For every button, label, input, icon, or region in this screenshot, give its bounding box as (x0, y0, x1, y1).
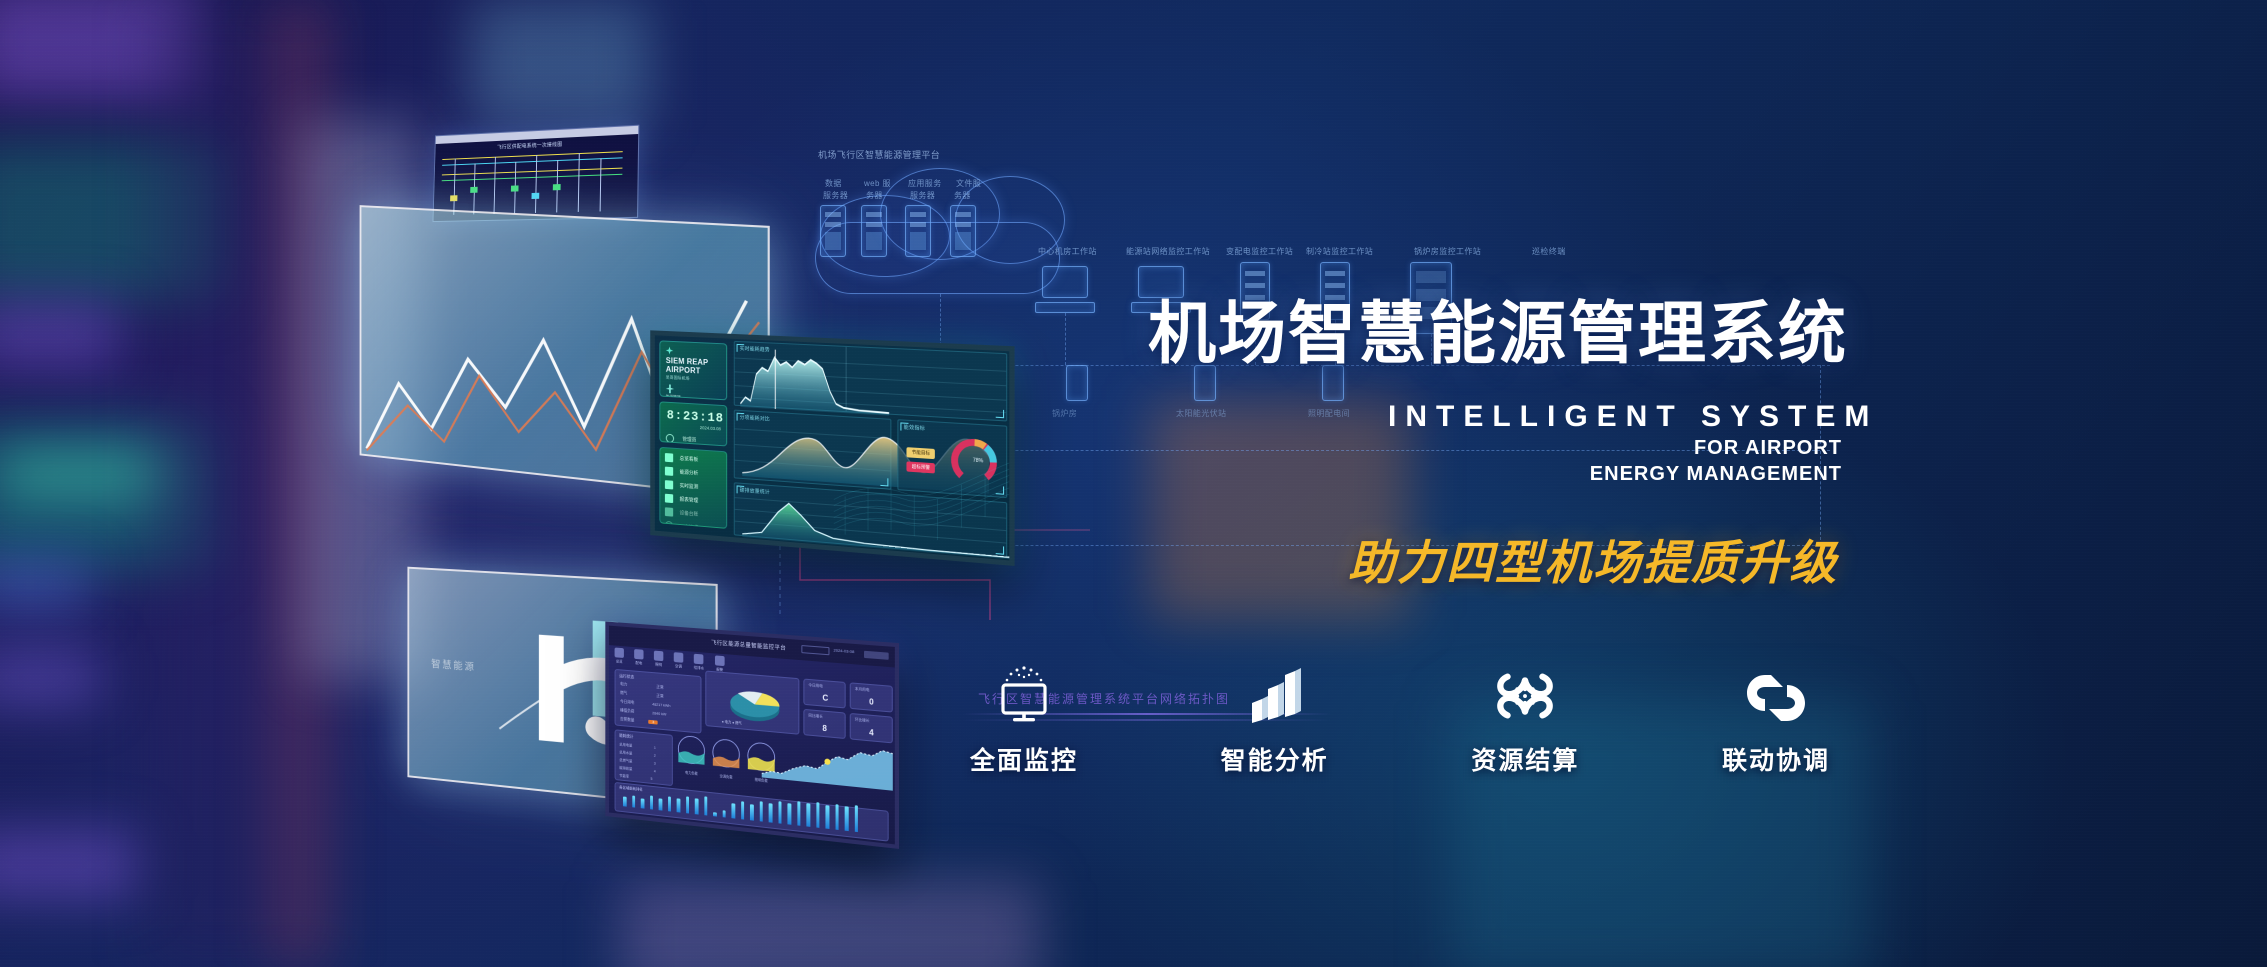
panel-pie: ● 电力 ● 燃气 (705, 671, 799, 735)
header-date: 2024-03-08 (834, 647, 855, 654)
gauge-label: 空调负载 (711, 772, 741, 780)
nav-icon (715, 655, 725, 666)
bar-group (623, 781, 881, 835)
panel-title: 能耗统计 (619, 734, 633, 740)
nav-item[interactable]: 配电 (634, 649, 643, 666)
server-node (861, 205, 887, 257)
info-row: 峰值负荷 2840 kW (620, 708, 666, 717)
sidebar-clock-card: 8:23:18 2024.03.08 管理员 (659, 401, 727, 446)
tagline: 助力四型机场提质升级 (1348, 524, 1838, 593)
info-row-alert: 告警数量 3 (620, 717, 658, 725)
hero-banner: 机场飞行区智慧能源管理平台 数据 服务器 web 服 务器 应用服务 服务器 文… (0, 0, 2267, 967)
kpi-value: 0 (869, 697, 874, 707)
kpi-card: 同比增长 8 (803, 709, 845, 739)
feature-item-coordination[interactable]: 联动协调 (1722, 665, 1830, 777)
kpi-label: 同比增长 (808, 713, 822, 719)
bar (806, 803, 810, 827)
info-row: 燃气 正常 (620, 691, 663, 700)
home-icon (665, 453, 673, 462)
panel-corner (996, 409, 1004, 418)
header-actions[interactable] (864, 651, 889, 660)
stat-row: 总燃气量 3 (619, 758, 655, 767)
dashboard-title: 飞行区能源总量智能监控平台 (711, 638, 786, 652)
sidebar-menu: 总览看板 能源分析 实时监测 报表管理 (659, 447, 727, 529)
device-icon (1066, 365, 1088, 401)
kpi-card: 今日用电 C (803, 679, 845, 709)
clover-dots-icon (1494, 665, 1556, 727)
report-icon (665, 494, 673, 503)
user-name: 管理员 (682, 435, 696, 443)
bar (778, 801, 782, 824)
dashboard-teal: SIEM REAP AIRPORT 吴哥国际机场 能源管理 8:23:18 20… (650, 330, 1014, 566)
gauge: 空调负载 (711, 737, 741, 781)
feature-item-monitor[interactable]: 全面监控 (970, 665, 1078, 777)
nav-item[interactable]: 空调 (674, 652, 684, 670)
sidebar-brand-card: SIEM REAP AIRPORT 吴哥国际机场 能源管理 (659, 340, 727, 400)
gauge-label: 电力负载 (677, 769, 707, 777)
bar (787, 803, 791, 824)
nav-label: 空调 (674, 664, 684, 670)
header-select[interactable] (801, 645, 829, 655)
panel-status: 运行状态 电力 正常 燃气 正常 今日用电 48217 kWh 峰值负荷 284… (615, 669, 702, 734)
panel-bar-ranking: 各区域能耗排名 (615, 782, 889, 842)
clock-date: 2024.03.08 (700, 425, 721, 431)
subtitle-line2: FOR AIRPORT (1694, 437, 1842, 460)
panel-title: 运行状态 (619, 673, 634, 680)
feature-item-analytics[interactable]: 智能分析 (1221, 665, 1329, 777)
bar (668, 796, 671, 811)
bar (641, 799, 644, 809)
noise-overlay (0, 0, 2267, 967)
bar (659, 798, 662, 811)
brand-spark-icon (666, 346, 673, 354)
bar (750, 804, 754, 821)
device-icon (665, 507, 673, 516)
kpi-value: 8 (822, 724, 826, 734)
kpi-label: 今日用电 (808, 683, 822, 689)
nav-icon (615, 647, 624, 657)
stat-row: 碳排放量 4 (619, 766, 655, 775)
sidebar-item-label: 设备台账 (680, 509, 699, 517)
bar (686, 796, 690, 813)
nav-icon (654, 651, 663, 662)
bar (759, 801, 763, 822)
schematic-title: 飞行区供配电系统一次接线图 (497, 141, 562, 151)
stat-row: 总用电量 1 (619, 742, 655, 750)
kpi-card: 环比增长 4 (850, 713, 893, 744)
analytics-icon (665, 466, 673, 475)
brand-line3: 吴哥国际机场 (666, 375, 690, 382)
sidebar-item-label: 总览看板 (680, 455, 699, 463)
bar (632, 796, 635, 808)
info-row: 今日用电 48217 kWh (620, 700, 670, 709)
mesh-surface-overlay (834, 421, 1009, 556)
nav-item[interactable]: 总览 (615, 647, 624, 664)
bar (797, 801, 801, 826)
dashboard-purple: 飞行区能源总量智能监控平台 2024-03-08 总览 配电 照明 (605, 621, 899, 848)
bar (695, 799, 699, 815)
bar (650, 795, 653, 809)
panel-corner (737, 344, 745, 352)
interlocking-leaves-icon (1743, 665, 1809, 727)
stat-row: 总用水量 2 (619, 750, 655, 759)
bar (769, 803, 773, 822)
settings-icon (665, 521, 673, 529)
bar (741, 802, 745, 820)
kpi-label: 本月用电 (855, 687, 870, 693)
sidebar-item-label: 报表管理 (680, 496, 699, 504)
subtitle-line3: ENERGY MANAGEMENT (1590, 463, 1842, 486)
kpi-label: 环比增长 (855, 717, 870, 723)
panel-trend-mini (762, 733, 893, 790)
server-node (820, 205, 846, 257)
feature-row: 全面监控 智能分析 (970, 665, 1830, 777)
bar (623, 797, 626, 807)
bar (835, 804, 839, 830)
bar (713, 812, 717, 817)
feature-label: 智能分析 (1221, 741, 1329, 777)
sidebar-item-label: 能源分析 (680, 468, 699, 476)
topology-cloud-label: 机场飞行区智慧能源管理平台 (818, 148, 940, 161)
panel-corner (737, 485, 745, 493)
bar-chart-3d-icon (1244, 665, 1306, 727)
bar (826, 805, 830, 829)
server-node (905, 205, 931, 257)
monitor-signal-icon (989, 665, 1059, 727)
feature-label: 联动协调 (1722, 741, 1830, 777)
monitor-icon (665, 480, 673, 489)
chart-panel-realtime: 实时能耗趋势 (734, 341, 1007, 422)
nav-item[interactable]: 给排水 (694, 654, 704, 672)
nav-label: 照明 (654, 662, 663, 668)
bar (854, 805, 858, 832)
bar (722, 810, 726, 817)
nav-label: 总览 (615, 659, 624, 665)
feature-item-settlement[interactable]: 资源结算 (1471, 665, 1579, 777)
nav-icon (674, 652, 684, 663)
panel-corner (737, 413, 745, 421)
bar (677, 799, 681, 813)
server-node (950, 205, 976, 257)
kpi-card: 本月用电 0 (850, 682, 893, 712)
user-icon (666, 433, 674, 442)
bar (704, 797, 708, 816)
feature-label: 全面监控 (970, 741, 1078, 777)
feature-label: 资源结算 (1471, 741, 1579, 777)
dashboard-teal-sidebar: SIEM REAP AIRPORT 吴哥国际机场 能源管理 8:23:18 20… (655, 335, 732, 537)
brand-sub: 能源管理 (666, 394, 681, 400)
bar (731, 803, 735, 818)
kpi-value: C (822, 693, 828, 703)
bar (845, 806, 849, 831)
nav-item[interactable]: 照明 (654, 651, 663, 668)
page-title: 机场智慧能源管理系统 (1148, 278, 1848, 377)
panel-stats: 能耗统计 总用电量 1 总用水量 2 总燃气量 3 碳排放量 4 节能率 5 (615, 729, 673, 786)
pie-chart-3d (706, 672, 798, 734)
bar (816, 802, 820, 828)
sidebar-item-label: 用户管理 (680, 523, 699, 529)
nav-icon (634, 649, 643, 660)
nav-icon (694, 654, 704, 665)
info-row: 电力 正常 (620, 682, 663, 691)
gauge: 电力负载 (677, 733, 707, 776)
airplane-icon (666, 384, 674, 393)
nav-label: 配电 (634, 661, 643, 667)
sidebar-item-label: 实时监测 (680, 482, 699, 490)
nav-label: 给排水 (694, 666, 704, 672)
brand-line2: AIRPORT (666, 365, 701, 376)
clock-value: 8:23:18 (667, 407, 724, 425)
subtitle-main: INTELLIGENT SYSTEM (1388, 400, 1878, 434)
schematic-panel: 飞行区供配电系统一次接线图 (433, 125, 640, 222)
kpi-value: 4 (869, 728, 874, 738)
workstation-icon (1042, 266, 1088, 298)
